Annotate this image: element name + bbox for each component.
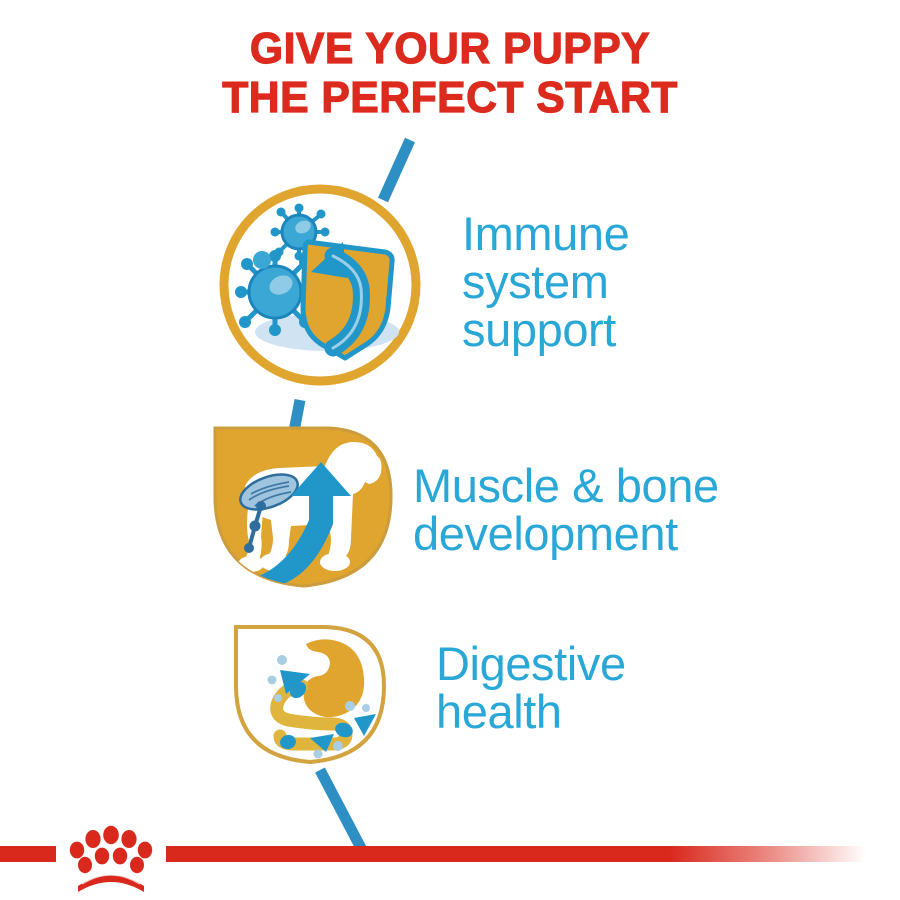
headline-line-1: GIVE YOUR PUPPY xyxy=(14,24,887,73)
shield-germs-icon xyxy=(215,180,425,390)
stomach-intestine-icon xyxy=(228,620,393,770)
band-bar-left xyxy=(0,846,56,862)
benefit-icon-muscle xyxy=(205,420,405,600)
page-title: GIVE YOUR PUPPY THE PERFECT START xyxy=(0,24,900,123)
connector-dashed-line xyxy=(0,0,900,900)
benefit-label-immune: Immune system support xyxy=(462,210,629,354)
benefit-icon-immune xyxy=(215,180,425,395)
band-bar-right xyxy=(166,846,866,862)
benefit-label-digestive: Digestive health xyxy=(436,640,626,736)
headline-line-2: THE PERFECT START xyxy=(14,73,887,122)
benefit-icon-digestive xyxy=(228,620,393,775)
puppy-benefits-infographic: GIVE YOUR PUPPY THE PERFECT START xyxy=(0,0,900,900)
crown-logo-icon xyxy=(56,814,166,892)
germ-dot-icon xyxy=(253,251,271,269)
puppy-muscle-bone-icon xyxy=(205,420,405,595)
benefit-label-muscle: Muscle & bone development xyxy=(413,462,719,558)
brand-band xyxy=(0,800,900,900)
